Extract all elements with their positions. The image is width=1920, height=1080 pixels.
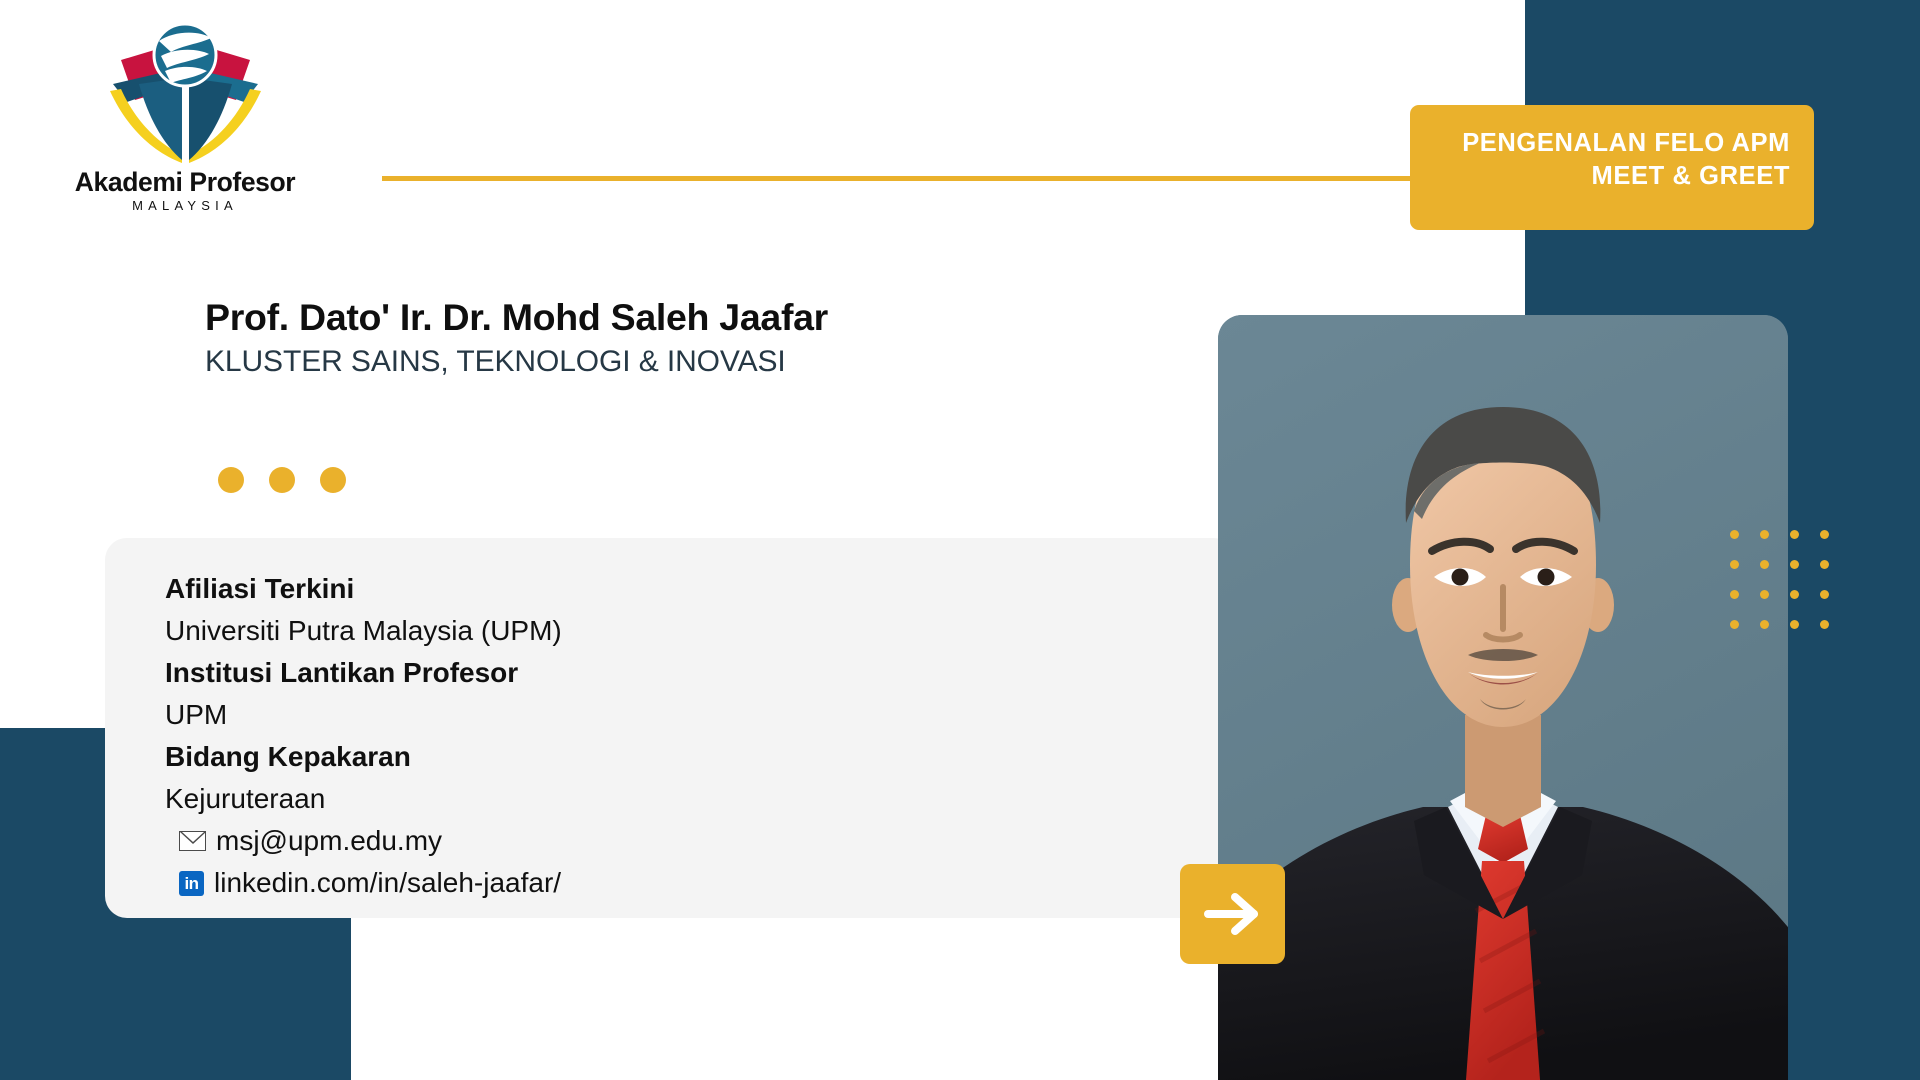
header-divider-rule: [382, 176, 1417, 181]
grid-dot: [1730, 530, 1739, 539]
grid-dot: [1820, 560, 1829, 569]
email-address[interactable]: msj@upm.edu.my: [216, 825, 442, 857]
decorative-dot-grid: [1730, 530, 1850, 650]
header-badge-line-2: MEET & GREET: [1434, 160, 1790, 193]
decorative-bullet-dots: [218, 467, 346, 493]
bullet-dot: [218, 467, 244, 493]
profile-info-card: Afiliasi Terkini Universiti Putra Malays…: [105, 538, 1235, 918]
slide-canvas: Akademi Profesor MALAYSIA PENGENALAN FEL…: [0, 0, 1920, 1080]
grid-dot: [1730, 620, 1739, 629]
linkedin-url[interactable]: linkedin.com/in/saleh-jaafar/: [214, 867, 561, 899]
grid-dot: [1760, 590, 1769, 599]
arrow-right-icon: [1202, 893, 1264, 935]
grid-dot: [1790, 620, 1799, 629]
grid-dot: [1790, 530, 1799, 539]
grid-dot: [1790, 590, 1799, 599]
grid-dot: [1790, 560, 1799, 569]
info-label: Institusi Lantikan Profesor: [165, 652, 1235, 694]
linkedin-contact-line[interactable]: in linkedin.com/in/saleh-jaafar/: [165, 862, 1235, 904]
page-title: Prof. Dato' Ir. Dr. Mohd Saleh Jaafar: [205, 296, 828, 339]
grid-dot: [1730, 590, 1739, 599]
grid-dot: [1820, 530, 1829, 539]
email-contact-line[interactable]: msj@upm.edu.my: [165, 820, 1235, 862]
grid-dot: [1820, 590, 1829, 599]
grid-dot: [1730, 560, 1739, 569]
bullet-dot: [320, 467, 346, 493]
email-icon: [179, 831, 206, 851]
info-value: Universiti Putra Malaysia (UPM): [165, 610, 1235, 652]
bullet-dot: [269, 467, 295, 493]
info-label: Afiliasi Terkini: [165, 568, 1235, 610]
header-badge-line-1: PENGENALAN FELO APM: [1434, 127, 1790, 160]
grid-dot: [1760, 560, 1769, 569]
linkedin-icon: in: [179, 871, 204, 896]
brand-logo: Akademi Profesor MALAYSIA: [55, 22, 315, 212]
grid-dot: [1760, 530, 1769, 539]
profile-photo: [1218, 315, 1788, 1080]
brand-logo-name: Akademi Profesor: [55, 167, 315, 198]
info-value: Kejuruteraan: [165, 778, 1235, 820]
brand-logo-country: MALAYSIA: [55, 198, 315, 213]
grid-dot: [1820, 620, 1829, 629]
info-value: UPM: [165, 694, 1235, 736]
next-slide-button[interactable]: [1180, 864, 1285, 964]
akademi-profesor-emblem-icon: [83, 22, 288, 164]
grid-dot: [1760, 620, 1769, 629]
info-label: Bidang Kepakaran: [165, 736, 1235, 778]
page-subtitle: KLUSTER SAINS, TEKNOLOGI & INOVASI: [205, 345, 786, 379]
header-badge: PENGENALAN FELO APM MEET & GREET: [1410, 105, 1814, 230]
